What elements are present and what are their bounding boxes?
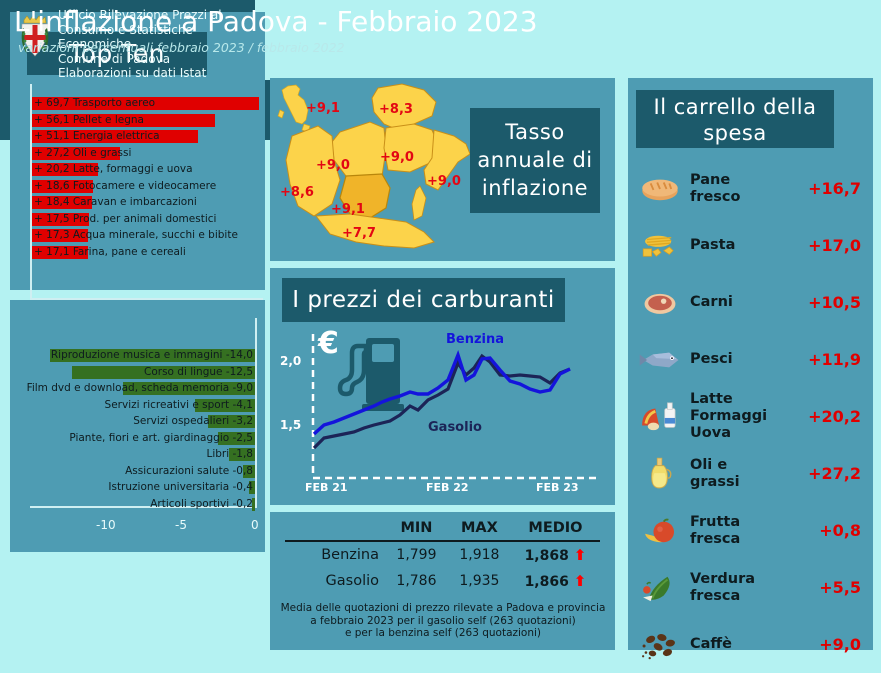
map-value-treviso: +9,0: [380, 150, 414, 165]
bread-icon: [636, 169, 684, 209]
map-value-vicenza: +9,0: [316, 158, 350, 173]
fish-icon: [636, 340, 684, 380]
bar-label: Assicurazioni salute -0,8: [125, 464, 253, 478]
cart-item-name-line: Latte: [690, 391, 803, 408]
map-value-padova: +9,1: [331, 202, 365, 217]
cart-item-name-line: Formaggi: [690, 408, 803, 425]
badge-line-3: inflazione: [470, 174, 600, 202]
bar-label: + 17,1 Farina, pane e cereali: [34, 245, 186, 259]
cart-item-row: Pasta+17,0: [628, 217, 873, 274]
cart-item-name-line: Pesci: [690, 351, 803, 368]
cart-title-line-1: Il carrello della: [636, 94, 834, 120]
cart-item-value: +0,8: [803, 521, 865, 540]
benzina-series-label: Benzina: [446, 332, 504, 347]
cart-item-value: +17,0: [803, 236, 865, 255]
cart-item-name: Caffè: [684, 636, 803, 653]
fuel-chart-svg: [278, 326, 608, 501]
cart-item-row: Oli egrassi+27,2: [628, 445, 873, 502]
cart-item-name-line: fresca: [690, 588, 803, 605]
cart-item-value: +11,9: [803, 350, 865, 369]
cart-item-name-line: Pasta: [690, 237, 803, 254]
cart-item-name: Oli egrassi: [684, 457, 803, 491]
cart-title-line-2: spesa: [636, 120, 834, 146]
cart-item-value: +5,5: [803, 578, 865, 597]
inflation-map-panel: +9,1 +8,3 +9,0 +9,0 +9,0 +8,6 +9,1 +7,7 …: [270, 78, 615, 261]
gasolio-medio: 1,866 ⬆: [511, 568, 600, 594]
pasta-icon: [636, 226, 684, 266]
bar-label: + 51,1 Energia elettrica: [34, 129, 160, 143]
oil-icon: [636, 454, 684, 494]
cart-item-name-line: Frutta: [690, 514, 803, 531]
shopping-cart-title: Il carrello della spesa: [636, 90, 834, 148]
fuel-prices-chart: 2,0 1,5 FEB 21 FEB 22 FEB 23 € Benzina G…: [278, 326, 608, 501]
cart-item-value: +20,2: [803, 407, 865, 426]
map-value-belluno: +8,3: [379, 102, 413, 117]
page-title: L'inflazione a Padova - Febbraio 2023: [14, 5, 538, 38]
cart-item-name-line: Oli e: [690, 457, 803, 474]
gasolio-series-label: Gasolio: [428, 420, 482, 435]
cart-item-row: Carni+10,5: [628, 274, 873, 331]
trend-up-icon: ⬆: [574, 572, 587, 590]
bar-label: Corso di lingue -12,5: [144, 365, 253, 379]
map-value-verona: +8,6: [280, 185, 314, 200]
cart-item-name: Verdurafresca: [684, 571, 803, 605]
benzina-max: 1,918: [448, 541, 511, 568]
bar-label: Libri -1,8: [207, 447, 254, 461]
table-row: Benzina 1,799 1,918 1,868 ⬆: [285, 541, 600, 568]
shopping-cart-list: Panefresco+16,7Pasta+17,0Carni+10,5Pesci…: [628, 160, 873, 673]
footer-line-5: Elaborazioni su dati Istat: [58, 66, 250, 81]
bar-label: + 18,6 Fotocamere e videocamere: [34, 179, 216, 193]
vegetable-icon: [636, 568, 684, 608]
bar-label: + 56,1 Pellet e legna: [34, 113, 144, 127]
page-subtitle: variazioni percentuali febbraio 2023 / f…: [18, 40, 345, 55]
coffee-icon: [636, 625, 684, 665]
bar-label: + 18,4 Caravan e imbarcazioni: [34, 195, 197, 209]
cart-item-name-line: Caffè: [690, 636, 803, 653]
badge-line-1: Tasso: [470, 118, 600, 146]
dairy-icon: [636, 397, 684, 437]
bottom-ten-chart: Riproduzione musica e immagini -14,0Cors…: [30, 318, 257, 508]
top-ten-chart: + 69,7 Trasporto aereo+ 56,1 Pellet e le…: [30, 84, 263, 300]
bar-label: Film dvd e download, scheda memoria -9,0: [27, 381, 253, 395]
bar-label: + 69,7 Trasporto aereo: [34, 96, 155, 110]
cart-item-name-line: fresca: [690, 531, 803, 548]
map-value-venezia: +9,0: [427, 174, 461, 189]
row-label-gasolio: Gasolio: [285, 568, 385, 594]
cart-item-row: LatteFormaggiUova+20,2: [628, 388, 873, 445]
gasolio-medio-value: 1,866: [525, 574, 569, 590]
bottom-ten-panel: Riproduzione musica e immagini -14,0Cors…: [10, 300, 265, 552]
bar-label: Riproduzione musica e immagini -14,0: [51, 348, 253, 362]
bottom-ten-x-axis: -10 -5 0: [20, 518, 270, 534]
row-label-benzina: Benzina: [285, 541, 385, 568]
map-value-rovigo: +7,7: [342, 226, 376, 241]
fuel-prices-title: I prezzi dei carburanti: [282, 278, 565, 322]
table-header-row: MIN MAX MEDIO: [285, 518, 600, 541]
cart-item-row: Fruttafresca+0,8: [628, 502, 873, 559]
fuel-table-note: Media delle quotazioni di prezzo rilevat…: [278, 602, 608, 640]
cart-item-name: LatteFormaggiUova: [684, 391, 803, 442]
x-tick-minus5: -5: [175, 518, 187, 532]
note-line-2: a febbraio 2023 per il gasolio self (263…: [278, 615, 608, 628]
region-vicenza: [332, 122, 386, 182]
fuel-prices-panel: I prezzi dei carburanti 2,0 1,5 FEB 21 F…: [270, 268, 615, 505]
meat-icon: [636, 283, 684, 323]
cart-item-name-line: fresco: [690, 189, 803, 206]
bar-label: + 27,2 Oli e grassi: [34, 146, 131, 160]
cart-item-row: Pesci+11,9: [628, 331, 873, 388]
cart-item-value: +10,5: [803, 293, 865, 312]
bar-label: Servizi ricreativi e sport -4,1: [105, 398, 253, 412]
cart-item-row: Verdurafresca+5,5: [628, 559, 873, 616]
table-row: Gasolio 1,786 1,935 1,866 ⬆: [285, 568, 600, 594]
fuel-price-table-panel: MIN MAX MEDIO Benzina 1,799 1,918 1,868 …: [270, 512, 615, 650]
cart-item-value: +27,2: [803, 464, 865, 483]
map-value-italia: +9,1: [306, 101, 340, 116]
gasolio-max: 1,935: [448, 568, 511, 594]
bar-label: + 20,2 Latte, formaggi e uova: [34, 162, 193, 176]
x-tick-minus10: -10: [96, 518, 116, 532]
benzina-min: 1,799: [385, 541, 448, 568]
cart-item-row: Caffè+9,0: [628, 616, 873, 673]
trend-up-icon: ⬆: [574, 546, 587, 564]
benzina-medio-value: 1,868: [525, 548, 569, 564]
cart-item-name-line: Uova: [690, 425, 803, 442]
gasolio-min: 1,786: [385, 568, 448, 594]
veneto-map: [274, 80, 479, 258]
cart-item-value: +16,7: [803, 179, 865, 198]
x-tick-zero: 0: [251, 518, 259, 532]
cart-item-name: Panefresco: [684, 172, 803, 206]
cart-item-name-line: Verdura: [690, 571, 803, 588]
fruit-icon: [636, 511, 684, 551]
region-lagoon: [412, 186, 426, 220]
cart-item-name: Fruttafresca: [684, 514, 803, 548]
shopping-cart-panel: Il carrello della spesa Panefresco+16,7P…: [628, 78, 873, 650]
col-medio: MEDIO: [511, 518, 600, 541]
fuel-pump-icon: [340, 338, 404, 411]
bar-label: + 17,5 Prod. per animali domestici: [34, 212, 216, 226]
cart-item-name-line: Carni: [690, 294, 803, 311]
annual-inflation-badge: Tasso annuale di inflazione: [470, 108, 600, 213]
cart-item-name: Carni: [684, 294, 803, 311]
bar-label: Servizi ospedalieri -3,2: [133, 414, 253, 428]
cart-item-row: Panefresco+16,7: [628, 160, 873, 217]
note-line-3: e per la benzina self (263 quotazioni): [278, 627, 608, 640]
bar-label: Piante, fiori e art. giardinaggio -2,5: [69, 431, 253, 445]
col-blank: [285, 518, 385, 541]
bar-label: Articoli sportivi -0,2: [150, 497, 253, 511]
col-min: MIN: [385, 518, 448, 541]
cart-item-name-line: grassi: [690, 474, 803, 491]
cart-item-name: Pasta: [684, 237, 803, 254]
note-line-1: Media delle quotazioni di prezzo rilevat…: [278, 602, 608, 615]
cart-item-value: +9,0: [803, 635, 865, 654]
bar-label: + 17,3 Acqua minerale, succhi e bibite: [34, 228, 238, 242]
col-max: MAX: [448, 518, 511, 541]
cart-item-name-line: Pane: [690, 172, 803, 189]
fuel-price-table: MIN MAX MEDIO Benzina 1,799 1,918 1,868 …: [285, 518, 600, 594]
cart-item-name: Pesci: [684, 351, 803, 368]
badge-line-2: annuale di: [470, 146, 600, 174]
benzina-medio: 1,868 ⬆: [511, 541, 600, 568]
bar-label: Istruzione universitaria -0,4: [108, 480, 253, 494]
